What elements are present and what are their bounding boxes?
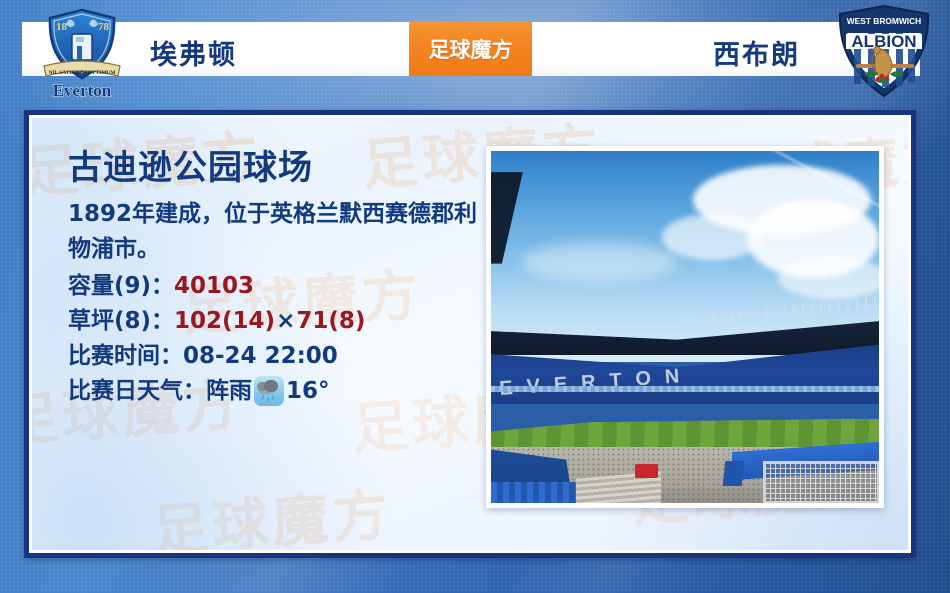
capacity-value: 40103: [174, 269, 254, 304]
photo-foreground-seats: [491, 482, 576, 503]
watermark-text: 足球魔方: [149, 470, 394, 550]
rain-drop: [261, 395, 264, 400]
svg-text:WEST BROMWICH: WEST BROMWICH: [847, 16, 921, 26]
pitch-width-value: 71(8): [296, 304, 365, 339]
photo-cloud: [522, 243, 677, 282]
capacity-label: 容量(9)：: [68, 269, 174, 304]
match-weather-condition: 阵雨: [206, 374, 252, 409]
match-time-value: 08-24 22:00: [183, 339, 338, 374]
goodison-park-photo: EVERTON: [486, 146, 884, 508]
capacity-row: 容量(9)： 40103: [68, 269, 488, 304]
home-team-name: 埃弗顿: [150, 33, 237, 72]
brand-logo: 足球魔方: [409, 22, 532, 76]
match-time-label: 比赛时间：: [68, 339, 183, 374]
photo-metal-fence: [763, 461, 879, 503]
rain-drop: [266, 397, 269, 402]
match-weather-label: 比赛日天气：: [68, 374, 206, 409]
photo-red-equipment-bag: [635, 464, 658, 478]
photo-cloud: [778, 257, 879, 299]
stadium-info-panel-inner: 足球魔方 足球魔方 足球魔方 足球魔方 足球魔方 足球魔方 足球魔方 足球魔方 …: [29, 115, 911, 553]
photo-upper-seats: [491, 386, 879, 392]
brand-logo-text: 足球魔方: [429, 34, 513, 64]
match-time-row: 比赛时间： 08-24 22:00: [68, 339, 488, 374]
match-weather-row: 比赛日天气： 阵雨 16°: [68, 374, 488, 409]
match-temperature: 16°: [286, 374, 330, 409]
shower-rain-icon: [254, 376, 284, 406]
svg-text:78: 78: [98, 21, 110, 33]
svg-text:18: 18: [56, 21, 68, 33]
photo-blue-sign: [723, 461, 745, 486]
pitch-length-value: 102(14): [174, 304, 275, 339]
match-stadium-card: 埃弗顿 西布朗 18 78 NIL SATIS NISI OPTIMUM: [0, 0, 950, 593]
stadium-info-column: 古迪逊公园球场 1892年建成，位于英格兰默西赛德郡利物浦市。 容量(9)： 4…: [68, 140, 488, 409]
stadium-photo-image: EVERTON: [491, 151, 879, 503]
stadium-description: 1892年建成，位于英格兰默西赛德郡利物浦市。: [68, 197, 488, 267]
svg-text:ALBION: ALBION: [851, 32, 916, 51]
svg-text:Everton: Everton: [53, 81, 112, 100]
pitch-size-separator: ×: [275, 304, 296, 339]
pitch-size-label: 草坪(8)：: [68, 304, 174, 339]
away-team-name: 西布朗: [713, 33, 800, 72]
cloud-shape-top: [264, 380, 278, 392]
rain-drop: [271, 395, 274, 400]
pitch-size-row: 草坪(8)： 102(14) × 71(8): [68, 304, 488, 339]
svg-text:NIL SATIS NISI OPTIMUM: NIL SATIS NISI OPTIMUM: [49, 70, 116, 76]
photo-cloud: [662, 214, 763, 260]
everton-crest: 18 78 NIL SATIS NISI OPTIMUM Everton: [36, 4, 128, 100]
stadium-title: 古迪逊公园球场: [68, 140, 488, 189]
west-bromwich-albion-crest: WEST BROMWICH ALBION: [832, 2, 936, 102]
stadium-info-panel: 足球魔方 足球魔方 足球魔方 足球魔方 足球魔方 足球魔方 足球魔方 足球魔方 …: [24, 110, 916, 558]
